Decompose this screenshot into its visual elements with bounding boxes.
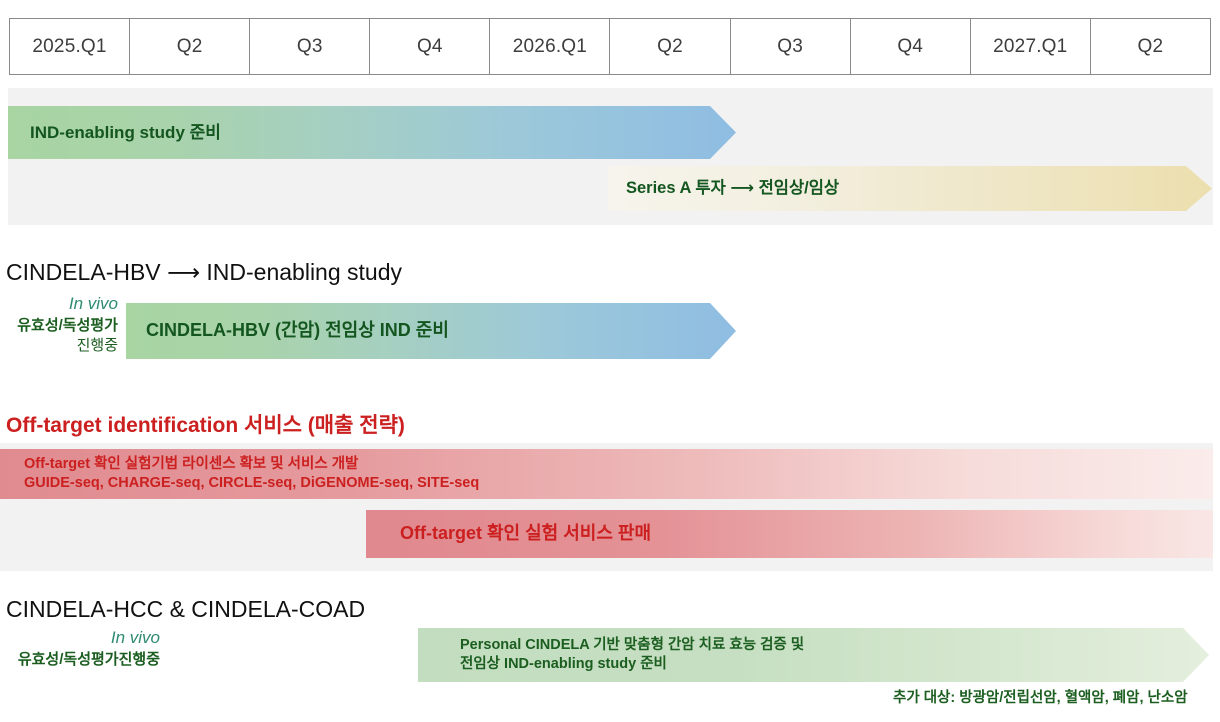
ind-enabling-study-arrow: IND-enabling study 준비 bbox=[8, 106, 736, 159]
ind-enabling-study-label: IND-enabling study 준비 bbox=[30, 122, 221, 144]
quarter-cell-1: Q2 bbox=[130, 19, 250, 74]
cindela-hbv-heading: CINDELA-HBV ⟶ IND-enabling study bbox=[6, 259, 402, 286]
roadmap-page: 2025.Q1 Q2 Q3 Q4 2026.Q1 Q2 Q3 Q4 2027.Q… bbox=[0, 0, 1220, 722]
cindela-hbv-progress-text: 진행중 bbox=[0, 336, 118, 356]
series-a-label: Series A 투자 ⟶ 전임상/임상 bbox=[626, 178, 839, 199]
additional-targets-footnote: 추가 대상: 방광암/전립선암, 혈액암, 폐암, 난소암 bbox=[893, 686, 1188, 707]
cindela-hbv-side-label: In vivo 유효성/독성평가 진행중 bbox=[0, 293, 118, 356]
off-target-sales-bar: Off-target 확인 실험 서비스 판매 bbox=[366, 510, 1213, 558]
cindela-hcc-side-label: In vivo 유효성/독성평가진행중 bbox=[0, 627, 160, 670]
quarter-header-table: 2025.Q1 Q2 Q3 Q4 2026.Q1 Q2 Q3 Q4 2027.Q… bbox=[9, 18, 1211, 75]
cindela-hbv-efficacy-text: 유효성/독성평가 bbox=[0, 316, 118, 336]
personal-cindela-arrow: Personal CINDELA 기반 맞춤형 간암 치료 효능 검증 및 전임… bbox=[418, 628, 1209, 682]
off-target-sales-label: Off-target 확인 실험 서비스 판매 bbox=[400, 522, 651, 545]
cindela-hcc-invivo-text: In vivo bbox=[0, 627, 160, 650]
quarter-cell-0: 2025.Q1 bbox=[10, 19, 130, 74]
cindela-hbv-arrow-label: CINDELA-HBV (간암) 전임상 IND 준비 bbox=[146, 319, 449, 342]
off-target-license-label: Off-target 확인 실험기법 라이센스 확보 및 서비스 개발 GUID… bbox=[24, 455, 479, 492]
off-target-license-bar: Off-target 확인 실험기법 라이센스 확보 및 서비스 개발 GUID… bbox=[0, 449, 1213, 499]
cindela-hcc-coad-heading: CINDELA-HCC & CINDELA-COAD bbox=[6, 596, 365, 623]
series-a-arrow: Series A 투자 ⟶ 전임상/임상 bbox=[608, 166, 1212, 211]
personal-cindela-label: Personal CINDELA 기반 맞춤형 간암 치료 효능 검증 및 전임… bbox=[460, 636, 804, 673]
cindela-hcc-efficacy-text: 유효성/독성평가진행중 bbox=[0, 650, 160, 670]
off-target-heading: Off-target identification 서비스 (매출 전략) bbox=[6, 409, 405, 439]
quarter-cell-7: Q4 bbox=[851, 19, 971, 74]
quarter-cell-6: Q3 bbox=[731, 19, 851, 74]
cindela-hbv-invivo-text: In vivo bbox=[0, 293, 118, 316]
quarter-cell-9: Q2 bbox=[1091, 19, 1211, 74]
quarter-cell-8: 2027.Q1 bbox=[971, 19, 1091, 74]
cindela-hbv-arrow: CINDELA-HBV (간암) 전임상 IND 준비 bbox=[126, 303, 736, 359]
quarter-cell-4: 2026.Q1 bbox=[490, 19, 610, 74]
quarter-cell-3: Q4 bbox=[370, 19, 490, 74]
quarter-cell-5: Q2 bbox=[610, 19, 730, 74]
quarter-cell-2: Q3 bbox=[250, 19, 370, 74]
